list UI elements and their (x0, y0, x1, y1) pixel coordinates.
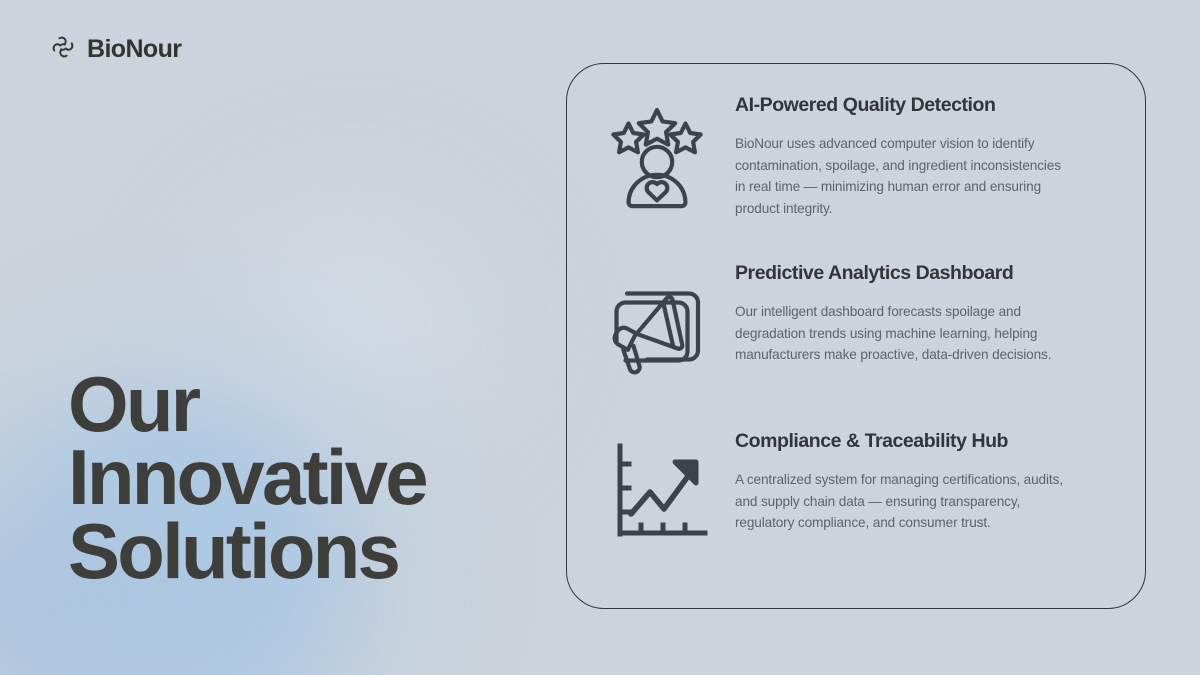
brand-logo[interactable]: BioNour (50, 34, 181, 65)
feature-title: Compliance & Traceability Hub (735, 430, 1109, 453)
feature-description: A centralized system for managing certif… (735, 469, 1070, 533)
feature-text-block: Predictive Analytics Dashboard Our intel… (735, 260, 1109, 366)
feature-text-block: Compliance & Traceability Hub A centrali… (735, 428, 1109, 534)
interlocking-loops-icon (50, 34, 76, 65)
headline-line-1: Our (68, 368, 538, 441)
headline-line-2: Innovative (68, 441, 538, 514)
feature-item-compliance-hub[interactable]: Compliance & Traceability Hub A centrali… (601, 428, 1109, 578)
feature-item-predictive-analytics[interactable]: Predictive Analytics Dashboard Our intel… (601, 260, 1109, 410)
person-three-stars-heart-icon (601, 100, 713, 212)
megaphone-screen-icon (601, 268, 713, 380)
feature-title: Predictive Analytics Dashboard (735, 262, 1109, 285)
growth-chart-arrow-icon (601, 436, 713, 548)
feature-description: BioNour uses advanced computer vision to… (735, 133, 1070, 219)
slide-stage: BioNour Our Innovative Solutions (0, 0, 1200, 675)
features-card: AI-Powered Quality Detection BioNour use… (566, 63, 1146, 609)
feature-text-block: AI-Powered Quality Detection BioNour use… (735, 92, 1109, 219)
page-title: Our Innovative Solutions (68, 368, 538, 588)
feature-item-quality-detection[interactable]: AI-Powered Quality Detection BioNour use… (601, 92, 1109, 242)
headline-line-3: Solutions (68, 515, 538, 588)
feature-title: AI-Powered Quality Detection (735, 94, 1109, 117)
feature-description: Our intelligent dashboard forecasts spoi… (735, 301, 1070, 365)
brand-name: BioNour (87, 37, 181, 62)
